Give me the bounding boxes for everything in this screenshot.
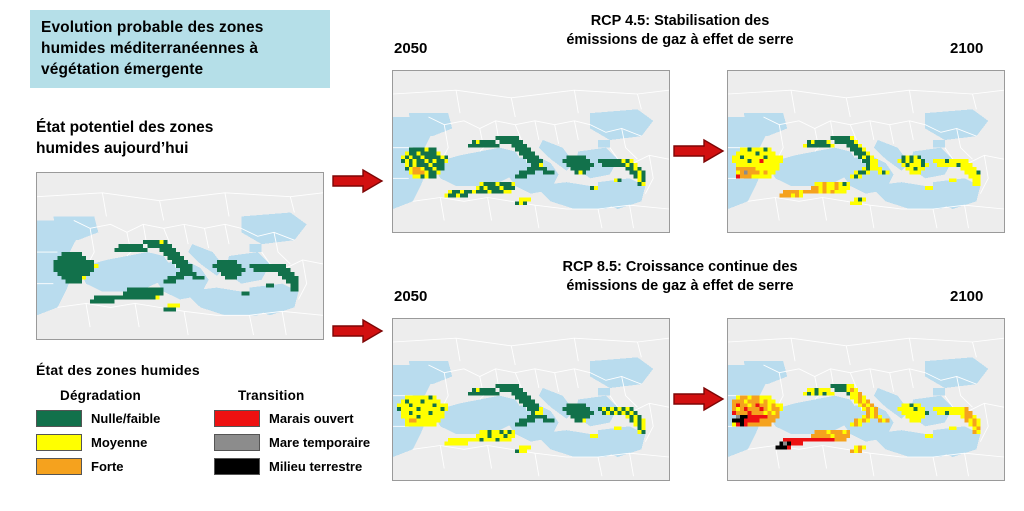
year-label-rcp45-2050: 2050	[394, 40, 427, 57]
base-heading-line-1: État potentiel des zones	[36, 117, 336, 138]
year-label-rcp85-2050: 2050	[394, 288, 427, 305]
map-panel-rcp85-2100[interactable]	[727, 318, 1005, 481]
arrow-present-to-rcp45	[332, 168, 384, 199]
title-banner: Evolution probable des zones humides méd…	[30, 10, 330, 88]
legend-row-milieu-terrestre: Milieu terrestre	[214, 458, 364, 475]
legend-column-degradation: Dégradation Nulle/faible Moyenne Forte	[36, 388, 186, 482]
scenario-heading-rcp85: RCP 8.5: Croissance continue des émissio…	[470, 258, 890, 296]
legend-row-nulle-faible: Nulle/faible	[36, 410, 186, 427]
legend-row-forte: Forte	[36, 458, 186, 475]
legend-swatch-marais-ouvert	[214, 410, 260, 427]
legend-label-moyenne: Moyenne	[91, 435, 147, 450]
legend-swatch-moyenne	[36, 434, 82, 451]
legend-column-title-degradation: Dégradation	[60, 388, 186, 403]
legend-label-nulle-faible: Nulle/faible	[91, 411, 160, 426]
rcp45-heading-line-2: émissions de gaz à effet de serre	[470, 31, 890, 50]
legend-title: État des zones humides	[36, 362, 376, 378]
legend-column-title-transition: Transition	[238, 388, 364, 403]
map-panel-rcp85-2050[interactable]	[392, 318, 670, 481]
base-heading-line-2: humides aujourd’hui	[36, 138, 336, 159]
legend-row-mare-temporaire: Mare temporaire	[214, 434, 364, 451]
legend-swatch-milieu-terrestre	[214, 458, 260, 475]
legend-row-moyenne: Moyenne	[36, 434, 186, 451]
title-line-1: Evolution probable des zones	[41, 17, 321, 38]
legend-label-milieu-terrestre: Milieu terrestre	[269, 459, 362, 474]
legend-label-marais-ouvert: Marais ouvert	[269, 411, 354, 426]
legend-label-mare-temporaire: Mare temporaire	[269, 435, 370, 450]
arrow-rcp45-2050-to-2100	[673, 138, 725, 169]
legend-row-marais-ouvert: Marais ouvert	[214, 410, 364, 427]
map-panel-rcp45-2100[interactable]	[727, 70, 1005, 233]
legend-swatch-mare-temporaire	[214, 434, 260, 451]
year-label-rcp45-2100: 2100	[950, 40, 983, 57]
legend: État des zones humides Dégradation Nulle…	[36, 362, 376, 482]
scenario-heading-rcp45: RCP 4.5: Stabilisation des émissions de …	[470, 12, 890, 50]
title-line-3: végétation émergente	[41, 59, 321, 80]
map-panel-rcp45-2050[interactable]	[392, 70, 670, 233]
arrow-present-to-rcp85	[332, 318, 384, 349]
rcp45-heading-line-1: RCP 4.5: Stabilisation des	[470, 12, 890, 31]
legend-swatch-nulle-faible	[36, 410, 82, 427]
arrow-rcp85-2050-to-2100	[673, 386, 725, 417]
legend-swatch-forte	[36, 458, 82, 475]
title-line-2: humides méditerranéennes à	[41, 38, 321, 59]
legend-column-transition: Transition Marais ouvert Mare temporaire…	[214, 388, 364, 482]
rcp85-heading-line-1: RCP 8.5: Croissance continue des	[470, 258, 890, 277]
legend-label-forte: Forte	[91, 459, 124, 474]
year-label-rcp85-2100: 2100	[950, 288, 983, 305]
base-map-heading: État potentiel des zones humides aujourd…	[36, 117, 336, 159]
map-panel-present[interactable]	[36, 172, 324, 340]
rcp85-heading-line-2: émissions de gaz à effet de serre	[470, 277, 890, 296]
